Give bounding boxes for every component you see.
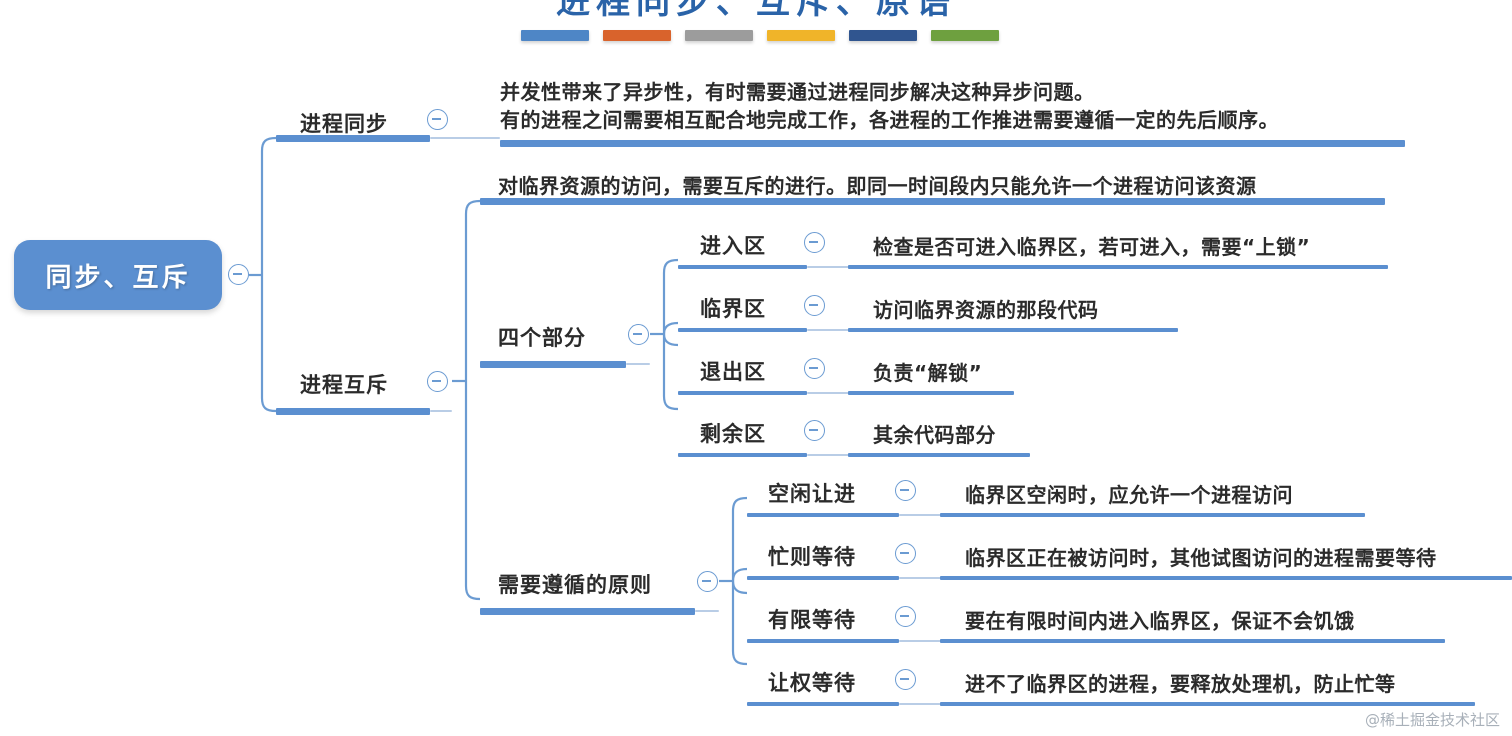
node-desc-exit-section: 负责“解锁” bbox=[873, 357, 982, 386]
underline-bar bbox=[480, 361, 626, 368]
underline-bar bbox=[276, 408, 430, 415]
node-desc-critical-section: 访问临界资源的那段代码 bbox=[873, 294, 1099, 323]
underline-bar bbox=[747, 513, 899, 517]
collapse-toggle-bounded-wait[interactable] bbox=[895, 606, 916, 627]
underline-bar bbox=[678, 328, 807, 332]
node-desc-process-mutex: 对临界资源的访问，需要互斥的进行。即同一时间段内只能允许一个进程访问该资源 bbox=[498, 170, 1257, 199]
node-label-four-parts: 四个部分 bbox=[498, 322, 586, 352]
node-desc-busy-wait: 临界区正在被访问时，其他试图访问的进程需要等待 bbox=[965, 542, 1437, 571]
underline-bar bbox=[480, 608, 695, 615]
underline-bar bbox=[500, 140, 1405, 147]
underline-bar-light bbox=[430, 410, 452, 412]
collapse-toggle-critical-section[interactable] bbox=[804, 295, 825, 316]
node-label-idle-let-in: 空闲让进 bbox=[768, 478, 856, 508]
color-swatch-row bbox=[521, 30, 999, 41]
underline-bar-light bbox=[430, 137, 500, 139]
collapse-toggle-principles[interactable] bbox=[697, 571, 718, 592]
underline-bar bbox=[747, 702, 899, 706]
node-desc-process-sync: 并发性带来了异步性，有时需要通过进程同步解决这种异步问题。 有的进程之间需要相互… bbox=[500, 78, 1279, 135]
color-swatch bbox=[767, 30, 835, 41]
root-node-label: 同步、互斥 bbox=[45, 257, 190, 294]
node-label-principles: 需要遵循的原则 bbox=[498, 569, 652, 599]
node-label-process-mutex: 进程互斥 bbox=[300, 369, 388, 399]
underline-bar bbox=[678, 391, 807, 395]
watermark: @稀土掘金技术社区 bbox=[1365, 709, 1500, 730]
underline-bar bbox=[848, 391, 1014, 395]
underline-bar bbox=[747, 576, 899, 580]
color-swatch bbox=[931, 30, 999, 41]
color-swatch bbox=[685, 30, 753, 41]
node-desc-line-2: 有的进程之间需要相互配合地完成工作，各进程的工作推进需要遵循一定的先后顺序。 bbox=[500, 106, 1279, 134]
color-swatch bbox=[849, 30, 917, 41]
underline-bar bbox=[678, 453, 807, 457]
node-label-busy-wait: 忙则等待 bbox=[768, 541, 856, 571]
underline-bar bbox=[940, 639, 1445, 643]
node-desc-remainder-section: 其余代码部分 bbox=[873, 419, 996, 448]
underline-bar bbox=[848, 328, 1178, 332]
color-swatch bbox=[603, 30, 671, 41]
node-desc-entry-section: 检查是否可进入临界区，若可进入，需要“上锁” bbox=[873, 231, 1310, 260]
node-desc-bounded-wait: 要在有限时间内进入临界区，保证不会饥饿 bbox=[965, 605, 1355, 634]
underline-bar bbox=[678, 265, 807, 269]
root-node[interactable]: 同步、互斥 bbox=[14, 240, 222, 310]
node-desc-idle-let-in: 临界区空闲时，应允许一个进程访问 bbox=[965, 479, 1293, 508]
color-swatch bbox=[521, 30, 589, 41]
node-label-exit-section: 退出区 bbox=[700, 356, 766, 386]
node-label-yield-wait: 让权等待 bbox=[768, 667, 856, 697]
underline-bar-light bbox=[626, 363, 650, 365]
underline-bar bbox=[276, 135, 430, 142]
node-desc-yield-wait: 进不了临界区的进程，要释放处理机，防止忙等 bbox=[965, 668, 1396, 697]
underline-bar bbox=[480, 198, 1385, 205]
underline-bar bbox=[940, 576, 1512, 580]
node-label-entry-section: 进入区 bbox=[700, 230, 766, 260]
underline-bar bbox=[747, 639, 899, 643]
node-label-critical-section: 临界区 bbox=[700, 293, 766, 323]
node-label-remainder-section: 剩余区 bbox=[700, 418, 766, 448]
collapse-toggle-process-sync[interactable] bbox=[427, 109, 448, 130]
mindmap-canvas: 进程同步、互斥、原语 bbox=[0, 0, 1512, 736]
underline-bar bbox=[848, 453, 1030, 457]
node-label-process-sync: 进程同步 bbox=[300, 108, 388, 138]
collapse-toggle-process-mutex[interactable] bbox=[427, 371, 448, 392]
underline-bar bbox=[940, 513, 1365, 517]
collapse-toggle-idle-let-in[interactable] bbox=[895, 480, 916, 501]
node-desc-line-1: 并发性带来了异步性，有时需要通过进程同步解决这种异步问题。 bbox=[500, 78, 1279, 106]
collapse-toggle-exit-section[interactable] bbox=[804, 358, 825, 379]
collapse-toggle-busy-wait[interactable] bbox=[895, 543, 916, 564]
collapse-toggle-yield-wait[interactable] bbox=[895, 669, 916, 690]
underline-bar bbox=[940, 702, 1475, 706]
collapse-toggle-entry-section[interactable] bbox=[804, 232, 825, 253]
underline-bar bbox=[848, 265, 1388, 269]
collapse-toggle-remainder-section[interactable] bbox=[804, 420, 825, 441]
node-label-bounded-wait: 有限等待 bbox=[768, 604, 856, 634]
collapse-toggle-root[interactable] bbox=[228, 264, 249, 285]
page-title: 进程同步、互斥、原语 bbox=[0, 0, 1512, 23]
collapse-toggle-four-parts[interactable] bbox=[628, 324, 649, 345]
underline-bar-light bbox=[695, 610, 719, 612]
